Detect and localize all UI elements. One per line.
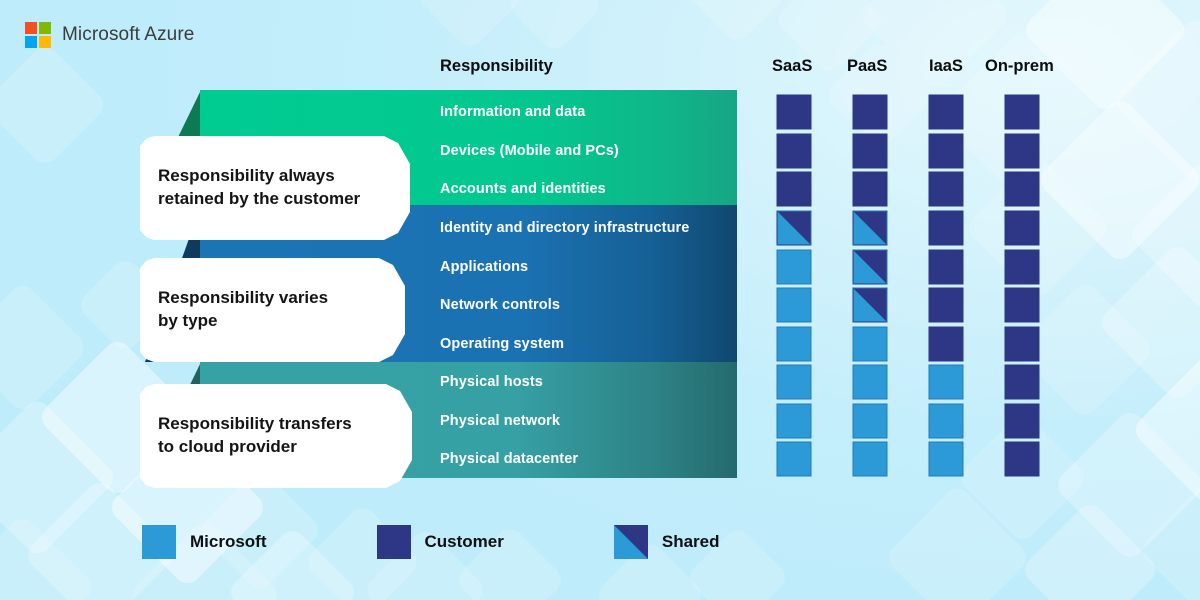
matrix-cell bbox=[853, 134, 888, 169]
matrix-cell bbox=[853, 327, 888, 362]
matrix-cell bbox=[853, 288, 888, 323]
callout-customer-retained: Responsibility always retained by the cu… bbox=[140, 136, 410, 240]
matrix-cell bbox=[853, 404, 888, 439]
row-label: Devices (Mobile and PCs) bbox=[440, 143, 619, 159]
matrix-cell bbox=[1005, 95, 1040, 130]
row-label: Applications bbox=[440, 259, 528, 275]
legend-swatch-microsoft-icon bbox=[142, 525, 176, 559]
matrix-cell bbox=[1005, 134, 1040, 169]
matrix-cell bbox=[777, 95, 812, 130]
matrix-cell bbox=[929, 442, 964, 477]
matrix-cell bbox=[777, 365, 812, 400]
legend: MicrosoftCustomerShared bbox=[142, 525, 720, 559]
matrix-cell bbox=[853, 250, 888, 285]
microsoft-logo-icon bbox=[25, 22, 51, 48]
matrix-cell bbox=[1005, 442, 1040, 477]
legend-item-microsoft: Microsoft bbox=[142, 525, 267, 559]
legend-item-customer: Customer bbox=[377, 525, 504, 559]
callout-text: Responsibility varies by type bbox=[140, 287, 338, 333]
matrix-cell bbox=[929, 211, 964, 246]
brand-logo: Microsoft Azure bbox=[25, 22, 194, 48]
matrix-cell bbox=[929, 95, 964, 130]
column-header-paas: PaaS bbox=[847, 57, 887, 76]
row-label: Network controls bbox=[440, 297, 560, 313]
matrix-cell bbox=[929, 404, 964, 439]
column-header-iaas: IaaS bbox=[929, 57, 963, 76]
callout-text: Responsibility transfers to cloud provid… bbox=[140, 413, 362, 459]
legend-item-shared: Shared bbox=[614, 525, 720, 559]
matrix-cell bbox=[777, 327, 812, 362]
row-label: Operating system bbox=[440, 336, 564, 352]
matrix-cell bbox=[1005, 327, 1040, 362]
matrix-cell bbox=[853, 365, 888, 400]
legend-label: Customer bbox=[425, 532, 504, 552]
matrix-cell bbox=[1005, 365, 1040, 400]
legend-swatch-customer-icon bbox=[377, 525, 411, 559]
callout-transfers-to-provider: Responsibility transfers to cloud provid… bbox=[140, 384, 412, 488]
matrix-cell bbox=[1005, 172, 1040, 207]
matrix-cell bbox=[929, 134, 964, 169]
column-header-responsibility: Responsibility bbox=[440, 57, 553, 76]
legend-label: Shared bbox=[662, 532, 720, 552]
matrix-cell bbox=[929, 327, 964, 362]
matrix-cell bbox=[929, 288, 964, 323]
matrix-cell bbox=[929, 365, 964, 400]
matrix-cell bbox=[1005, 211, 1040, 246]
matrix-cell bbox=[853, 95, 888, 130]
column-header-on-prem: On-prem bbox=[985, 57, 1054, 76]
matrix-cell bbox=[853, 172, 888, 207]
row-label: Identity and directory infrastructure bbox=[440, 220, 689, 236]
matrix-cell bbox=[777, 134, 812, 169]
legend-swatch-shared-icon bbox=[614, 525, 648, 559]
matrix-cell bbox=[777, 172, 812, 207]
infographic-canvas: Microsoft Azure Responsibility SaaSPaaSI… bbox=[0, 0, 1200, 600]
matrix-cell bbox=[853, 442, 888, 477]
callout-text: Responsibility always retained by the cu… bbox=[140, 165, 370, 211]
matrix-cell bbox=[853, 211, 888, 246]
brand-name: Microsoft Azure bbox=[62, 24, 194, 46]
matrix-cell bbox=[1005, 404, 1040, 439]
callout-varies-by-type: Responsibility varies by type bbox=[140, 258, 405, 362]
matrix-cell bbox=[777, 442, 812, 477]
row-label: Physical hosts bbox=[440, 374, 543, 390]
matrix-cell bbox=[777, 404, 812, 439]
matrix-cell bbox=[929, 250, 964, 285]
row-label: Information and data bbox=[440, 104, 585, 120]
matrix-cell bbox=[777, 250, 812, 285]
row-label: Physical datacenter bbox=[440, 451, 578, 467]
row-label: Accounts and identities bbox=[440, 181, 606, 197]
row-label: Physical network bbox=[440, 413, 560, 429]
matrix-cell bbox=[1005, 250, 1040, 285]
legend-label: Microsoft bbox=[190, 532, 267, 552]
matrix-cell bbox=[777, 211, 812, 246]
column-header-saas: SaaS bbox=[772, 57, 812, 76]
matrix-cell bbox=[777, 288, 812, 323]
matrix-cell bbox=[929, 172, 964, 207]
matrix-cell bbox=[1005, 288, 1040, 323]
